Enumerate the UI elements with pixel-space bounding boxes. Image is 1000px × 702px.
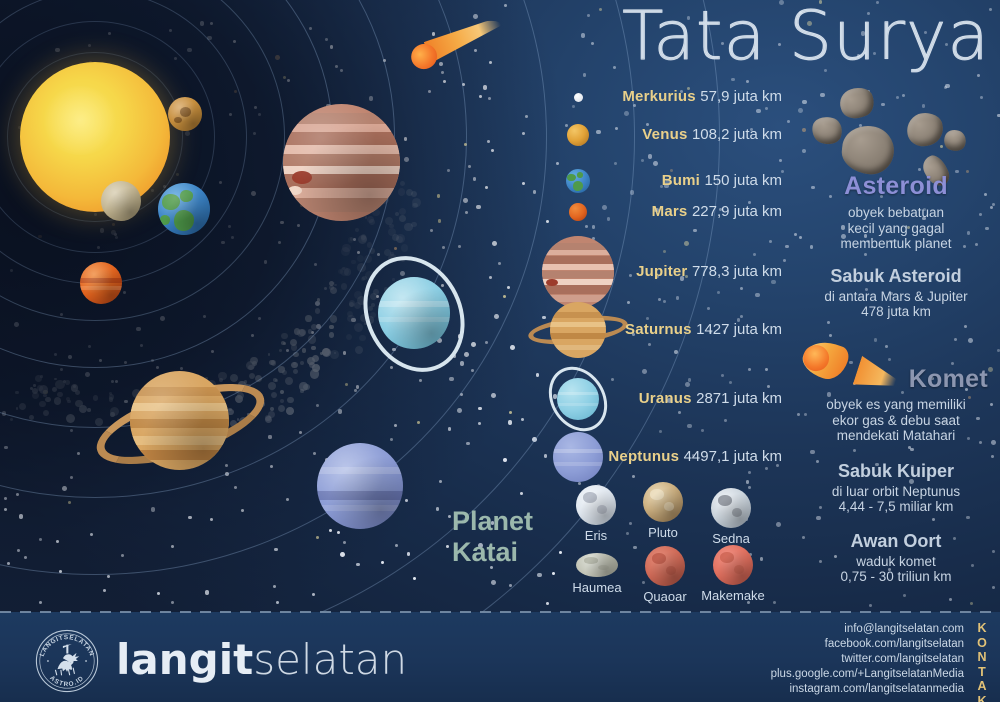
dwarf-planet-item: Makemake (701, 545, 765, 603)
planet-row: Venus 108,2 juta km (0, 126, 782, 144)
asteroid-rock (836, 83, 878, 122)
planet-name: Bumi (662, 172, 700, 189)
comet-desc-1: obyek es yang memiliki (796, 397, 996, 413)
comet-desc-3: mendekati Matahari (796, 428, 996, 444)
infographic-canvas: Tata Surya Merkurius 57,9 juta kmVenus 1… (0, 0, 1000, 702)
kuiper-heading: Sabuk Kuiper (796, 461, 996, 482)
asteroid-block: Asteroid obyek bebatuan kecil yang gagal… (796, 172, 996, 320)
asteroid-desc-1: obyek bebatuan (796, 205, 996, 221)
dwarf-planet-item: Eris (564, 485, 628, 543)
oort-line-1: waduk komet (796, 554, 996, 570)
dwarf-planet-icon (576, 485, 616, 525)
brand-light: selatan (253, 635, 407, 684)
planet-distance: 57,9 juta km (700, 88, 782, 105)
dwarf-planet-heading: Planet Katai (452, 506, 562, 568)
planet-row: Bumi 150 juta km (0, 172, 782, 190)
asteroid-belt-1: di antara Mars & Jupiter (796, 289, 996, 305)
asteroid-desc-3: membentuk planet (796, 236, 996, 252)
dwarf-planet-label: Sedna (699, 531, 763, 546)
asteroid-heading: Asteroid (796, 172, 996, 201)
planet-name: Venus (642, 126, 687, 143)
planet-row: Neptunus 4497,1 juta km (0, 448, 782, 466)
dwarf-planet-label: Haumea (565, 580, 629, 595)
dwarf-planet-item: Pluto (631, 482, 695, 540)
oort-line-2: 0,75 - 30 triliun km (796, 569, 996, 585)
dwarf-planet-item: Haumea (565, 553, 629, 595)
comet-heading: Komet (796, 365, 996, 394)
dwarf-planet-icon (576, 553, 618, 577)
dwarf-heading-line1: Planet (452, 506, 562, 537)
planet-distance: 2871 juta km (696, 390, 782, 407)
dwarf-planet-icon (711, 488, 751, 528)
planet-name: Jupiter (636, 263, 687, 280)
planet-distance: 108,2 juta km (692, 126, 782, 143)
planet-name: Mars (652, 203, 688, 220)
contact-line[interactable]: facebook.com/langitselatan (714, 637, 964, 652)
dwarf-planet-icon (643, 482, 683, 522)
dwarf-planet-label: Makemake (701, 588, 765, 603)
comet-block: Komet obyek es yang memiliki ekor gas & … (796, 365, 996, 585)
dwarf-planet-label: Pluto (631, 525, 695, 540)
planet-distance: 4497,1 juta km (684, 448, 782, 465)
dwarf-planet-item: Sedna (699, 488, 763, 546)
footer-divider (0, 611, 1000, 613)
asteroid-belt-2: 478 juta km (796, 304, 996, 320)
planet-name: Merkurius (622, 88, 696, 105)
asteroid-rock (941, 127, 969, 154)
asteroid-belt-heading: Sabuk Asteroid (796, 266, 996, 287)
contact-line[interactable]: info@langitselatan.com (714, 622, 964, 637)
dwarf-planet-icon (713, 545, 753, 585)
planet-distance: 227,9 juta km (692, 203, 782, 220)
asteroid-rock (840, 123, 897, 176)
dwarf-heading-line2: Katai (452, 537, 562, 568)
contact-line[interactable]: plus.google.com/+LangitselatanMedia (714, 667, 964, 682)
planet-row: Jupiter 778,3 juta km (0, 263, 782, 281)
contact-list: info@langitselatan.comfacebook.com/langi… (714, 622, 964, 697)
langitselatan-logo-icon: LANGITSELATAN ASTRO.ID (33, 627, 101, 695)
planet-distance: 778,3 juta km (692, 263, 782, 280)
planet-distance: 1427 juta km (696, 321, 782, 338)
kuiper-line-1: di luar orbit Neptunus (796, 484, 996, 500)
planet-name: Uranus (639, 390, 692, 407)
brand-wordmark: langitselatan (116, 630, 407, 690)
kontak-label: KONTAK (972, 621, 992, 702)
asteroid-rock (905, 111, 945, 149)
contact-line[interactable]: instagram.com/langitselatanmedia (714, 682, 964, 697)
planet-distance: 150 juta km (704, 172, 782, 189)
dwarf-planet-item: Quaoar (633, 546, 697, 604)
planet-row: Saturnus 1427 juta km (0, 321, 782, 339)
brand-bold: langit (116, 635, 253, 684)
planet-name: Saturnus (625, 321, 692, 338)
dwarf-planet-label: Quaoar (633, 589, 697, 604)
dwarf-planet-icon (645, 546, 685, 586)
asteroid-rock (810, 114, 845, 147)
comet-desc-2: ekor gas & debu saat (796, 413, 996, 429)
planet-row: Uranus 2871 juta km (0, 390, 782, 408)
planet-row: Merkurius 57,9 juta km (0, 88, 782, 106)
kuiper-line-2: 4,44 - 7,5 miliar km (796, 499, 996, 515)
planet-row: Mars 227,9 juta km (0, 203, 782, 221)
oort-heading: Awan Oort (796, 531, 996, 552)
contact-line[interactable]: twitter.com/langitselatan (714, 652, 964, 667)
asteroid-desc-2: kecil yang gagal (796, 221, 996, 237)
svg-text:ASTRO.ID: ASTRO.ID (48, 675, 85, 689)
planet-name: Neptunus (608, 448, 679, 465)
page-title: Tata Surya (560, 0, 990, 76)
dwarf-planet-label: Eris (564, 528, 628, 543)
